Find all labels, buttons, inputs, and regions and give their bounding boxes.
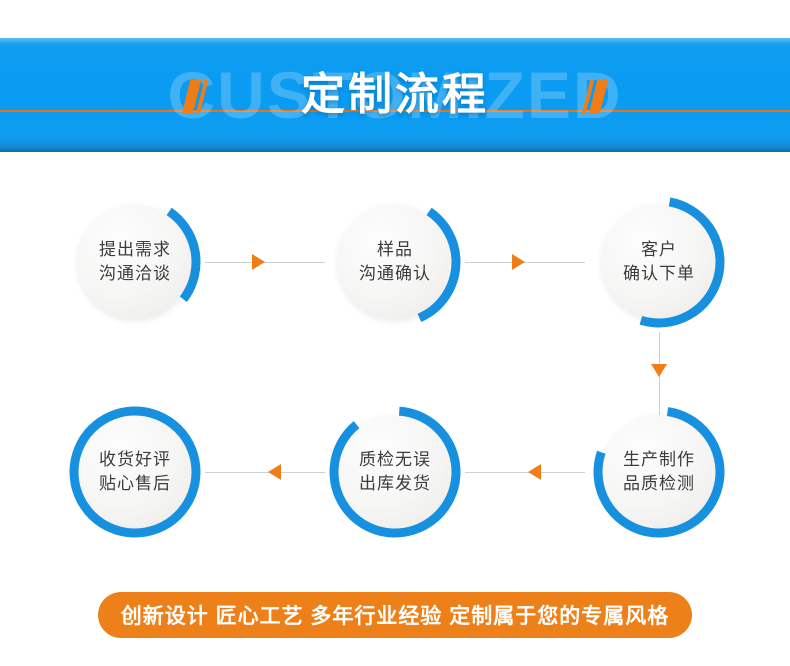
process-step-4[interactable]: 生产制作 品质检测: [594, 407, 724, 537]
footer-slogan-banner: 创新设计 匠心工艺 多年行业经验 定制属于您的专属风格: [98, 592, 692, 638]
step-2-label: 样品 沟通确认: [330, 197, 460, 327]
step-4-line2: 品质检测: [623, 474, 695, 494]
step-5-line1: 质检无误: [359, 450, 431, 470]
step-1-line1: 提出需求: [99, 240, 171, 260]
customization-process-infographic: CUSTOMIZED 定制流程 提出需求 沟通: [0, 0, 790, 666]
step-3-label: 客户 确认下单: [594, 197, 724, 327]
connector-step1-step2: [205, 262, 325, 263]
arrow-down-step3-step4-icon: [651, 364, 667, 377]
arrow-left-step4-step5-icon: [528, 464, 541, 480]
process-step-3[interactable]: 客户 确认下单: [594, 197, 724, 327]
connector-step4-step5: [465, 472, 585, 473]
step-1-line2: 沟通洽谈: [99, 264, 171, 284]
process-flow-diagram: 提出需求 沟通洽谈 样品 沟通确认 客户 确认下单: [0, 152, 790, 572]
step-3-line1: 客户: [641, 240, 677, 260]
connector-step2-step3: [465, 262, 585, 263]
step-3-line2: 确认下单: [623, 264, 695, 284]
step-5-label: 质检无误 出库发货: [330, 407, 460, 537]
arrow-right-step1-step2-icon: [252, 254, 265, 270]
process-step-1[interactable]: 提出需求 沟通洽谈: [70, 197, 200, 327]
step-1-label: 提出需求 沟通洽谈: [70, 197, 200, 327]
footer-slogan-text: 创新设计 匠心工艺 多年行业经验 定制属于您的专属风格: [121, 600, 670, 630]
process-step-6[interactable]: 收货好评 贴心售后: [70, 407, 200, 537]
step-2-line1: 样品: [377, 240, 413, 260]
step-4-line1: 生产制作: [623, 450, 695, 470]
process-step-5[interactable]: 质检无误 出库发货: [330, 407, 460, 537]
connector-step5-step6: [205, 472, 325, 473]
step-6-label: 收货好评 贴心售后: [70, 407, 200, 537]
step-6-line1: 收货好评: [99, 450, 171, 470]
arrow-left-step5-step6-icon: [268, 464, 281, 480]
arrow-right-step2-step3-icon: [512, 254, 525, 270]
page-title: 定制流程: [0, 38, 790, 152]
step-5-line2: 出库发货: [359, 474, 431, 494]
step-6-line2: 贴心售后: [99, 474, 171, 494]
step-2-line2: 沟通确认: [359, 264, 431, 284]
step-4-label: 生产制作 品质检测: [594, 407, 724, 537]
process-step-2[interactable]: 样品 沟通确认: [330, 197, 460, 327]
